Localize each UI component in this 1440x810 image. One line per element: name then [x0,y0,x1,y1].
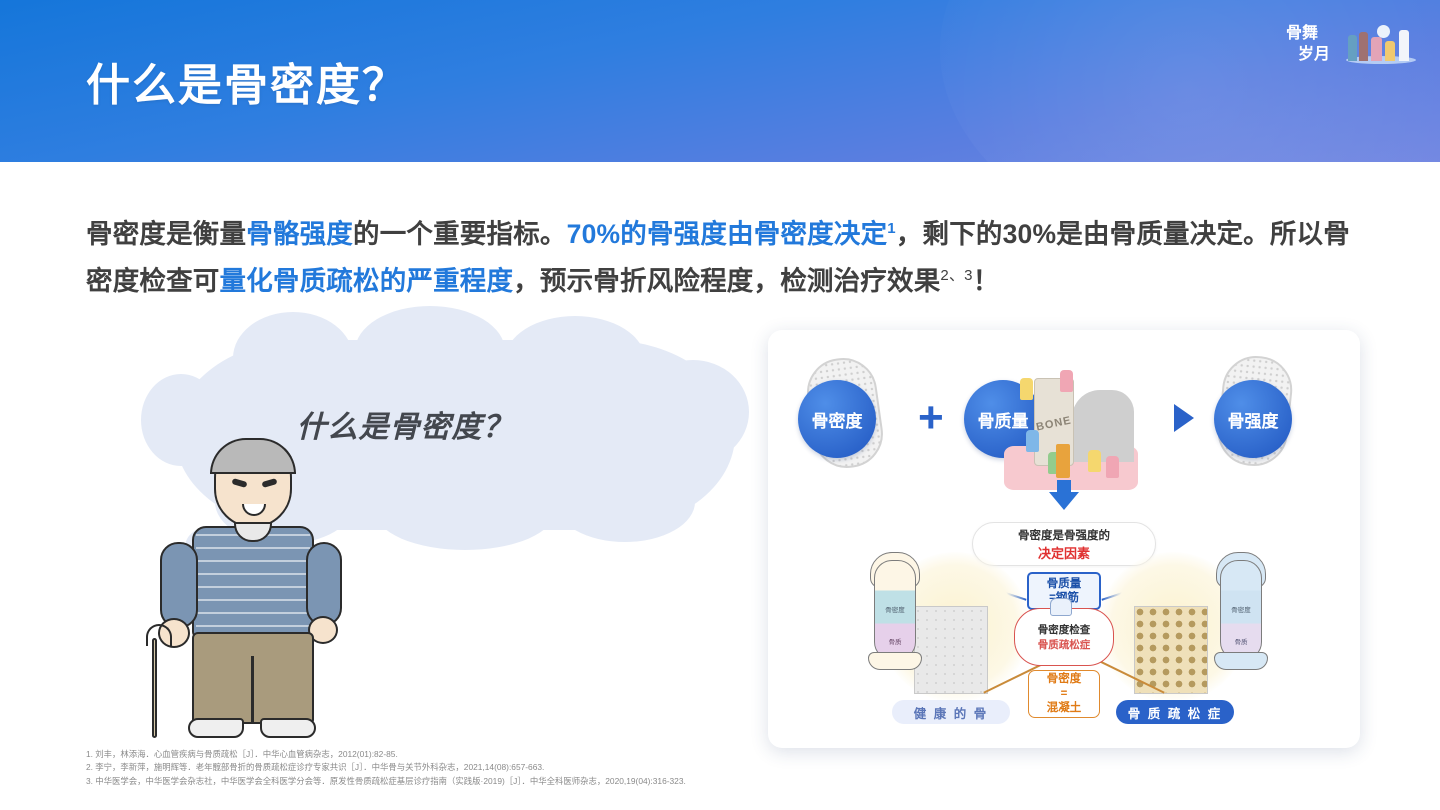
footnotes: 1. 刘丰，林添海．心血管疾病与骨质疏松［J］．中华心血管病杂志，2012(01… [86,748,986,789]
conclusion-line-2: 决定因素 [1038,543,1090,562]
tag-osteoporosis: 骨 质 疏 松 症 [1116,700,1234,724]
check-note-line-2: 骨质疏松症 [1038,637,1091,652]
body-text-5: ，预示骨折风险程度，检测治疗 [513,266,887,296]
footnote-ref-1: 1 [887,220,896,237]
healthy-char-label-1: 骨密度 [878,604,912,614]
osteoporotic-bone-cube [1134,606,1208,694]
plus-icon: + [918,396,944,440]
bone-factory-illustration: BONE [996,346,1146,496]
man-cane [152,638,157,738]
man-arm-left [160,542,198,628]
check-note-line-1: 骨密度检查 [1038,622,1091,637]
body-text-7: ！ [973,266,1000,296]
body-text-6: 效果 [887,266,940,296]
body-highlight-3: 量化骨质疏松的严重程度 [220,266,514,296]
conclusion-note: 骨密度是骨强度的 决定因素 [972,522,1156,566]
elderly-man-figure [130,442,390,742]
speech-bubble-text: 什么是骨密度？ [240,402,570,446]
concrete-line-2: = [1061,687,1068,702]
brand-line-1: 骨舞 [1286,22,1318,45]
man-shoe-left [188,718,244,738]
footnote-1: 1. 刘丰，林添海．心血管疾病与骨质疏松［J］．中华心血管病杂志，2012(01… [86,748,986,762]
body-text-1: 骨密度是衡量 [86,219,246,249]
osteo-char-label-1: 骨密度 [1224,604,1258,614]
brand-logo: 骨舞 岁月 [1286,18,1420,70]
man-shirt-stripes [196,534,310,632]
diagram-row-formula: 骨密度 + 骨质量 BONE 骨强度 [768,352,1360,492]
circle-bone-density: 骨密度 [798,380,876,458]
bone-density-check-note: 骨密度检查 骨质疏松症 [1014,608,1114,666]
body-paragraph: 骨密度是衡量骨骼强度的一个重要指标。70%的骨强度由骨密度决定1，剩下的30%是… [86,208,1356,302]
osteo-char-label-2: 骨质 [1224,636,1258,646]
concrete-label-box: 骨密度 = 混凝土 [1028,670,1100,718]
page-title: 什么是骨密度？ [86,62,408,110]
concrete-line-1: 骨密度 [1047,672,1082,687]
osteoporotic-bone-character: 骨密度 骨质 [1210,552,1272,670]
body-highlight-1: 骨骼强度 [246,219,353,249]
concrete-line-3: 混凝土 [1047,701,1082,716]
slide-header: 什么是骨密度？ 骨舞 岁月 [0,0,1440,162]
left-illustration: 什么是骨密度？ [70,330,730,730]
man-cane-handle [146,624,172,646]
tag-healthy-bone: 健 康 的 骨 [892,700,1010,724]
healthy-bone-character: 骨密度 骨质 [864,552,926,670]
footnote-3: 3. 中华医学会，中华医学会杂志社，中华医学会全科医学分会等．原发性骨质疏松症基… [86,775,986,789]
hand-pointer-icon [1050,598,1072,616]
man-shoe-right [260,718,316,738]
bone-strength-diagram: 骨密度 + 骨质量 BONE 骨强度 [768,330,1360,748]
rebar-line-1: 骨质量 [1047,577,1082,591]
man-hair [210,438,296,474]
healthy-char-label-2: 骨质 [878,636,912,646]
brand-logo-text: 骨舞 岁月 [1286,20,1340,68]
man-leg-split [251,656,254,724]
body-text-2: 的一个重要指标。 [353,219,567,249]
circle-bone-strength: 骨强度 [1214,380,1292,458]
brand-line-2: 岁月 [1298,43,1330,66]
conclusion-line-1: 骨密度是骨强度的 [1018,527,1110,543]
body-text-3: ，剩下的30%是 [896,219,1083,249]
arrow-right-icon [1174,404,1194,432]
man-arm-right [306,542,342,626]
footnote-2: 2. 李宁，李新萍，施明辉等．老年髋部骨折的骨质疏松症诊疗专家共识［J］．中华骨… [86,761,986,775]
footnote-ref-2: 2、3 [940,267,972,284]
body-highlight-2: 70%的骨强度由骨密度决定 [567,219,888,249]
down-arrow-icon [1049,492,1079,510]
slide-root: 什么是骨密度？ 骨舞 岁月 骨密度是衡量骨骼强度的一个重要指标。70%的骨强度由… [0,0,1440,810]
brand-people-icon [1344,20,1418,68]
